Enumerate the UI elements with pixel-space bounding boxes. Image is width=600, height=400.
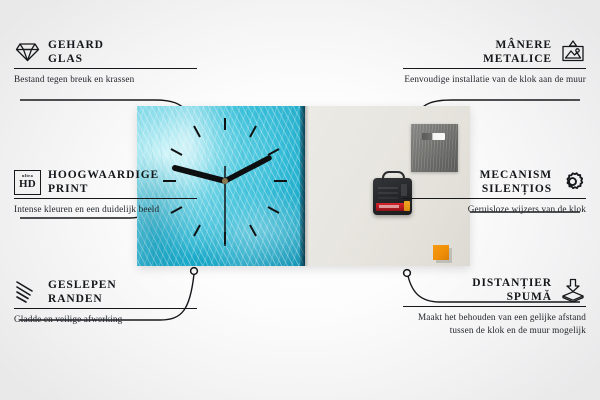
callout-gehard-glas: GEHARDGLAS Bestand tegen breuk en krasse… bbox=[14, 38, 197, 86]
callout-geslepen-randen: GESLEPENRANDEN Gladde en veilige afwerki… bbox=[14, 278, 197, 326]
gear-icon bbox=[559, 169, 586, 196]
callout-mecanism-silentios: MECANISMSILENȚIOS Geruisloze wijzers van… bbox=[403, 168, 586, 216]
infographic-canvas: GEHARDGLAS Bestand tegen breuk en krasse… bbox=[0, 0, 600, 400]
diamond-icon bbox=[14, 39, 41, 66]
callout-title: DISTANȚIERSPUMĂ bbox=[472, 276, 552, 304]
callout-title: MÂNEREMETALICE bbox=[483, 38, 552, 66]
callout-head: MECANISMSILENȚIOS bbox=[403, 168, 586, 198]
callout-title: GEHARDGLAS bbox=[48, 38, 104, 66]
callout-manere-metalice: MÂNEREMETALICE Eenvoudige installatie va… bbox=[403, 38, 586, 86]
callout-title: MECANISMSILENȚIOS bbox=[480, 168, 552, 196]
callout-rule bbox=[14, 198, 197, 199]
clock-center-pin bbox=[222, 178, 228, 184]
metal-hanger-plate bbox=[411, 124, 458, 172]
leader-dot-edges bbox=[191, 268, 198, 275]
callout-description: Intense kleuren en een duidelijk beeld bbox=[14, 203, 197, 216]
callout-description: Bestand tegen breuk en krassen bbox=[14, 73, 197, 86]
panel-inner-edge bbox=[305, 106, 309, 266]
callout-head: MÂNEREMETALICE bbox=[403, 38, 586, 68]
callout-distantier-spuma: DISTANȚIERSPUMĂ Maakt het behouden van e… bbox=[403, 276, 586, 337]
hd-badge-main: HD bbox=[19, 179, 36, 190]
hanger-slot bbox=[422, 133, 445, 140]
callout-description: Eenvoudige installatie van de klok aan d… bbox=[403, 73, 586, 86]
callout-rule bbox=[14, 68, 197, 69]
callout-hoogwaardige-print: ultra HD HOOGWAARDIGEPRINT Intense kleur… bbox=[14, 168, 197, 216]
battery-label bbox=[379, 205, 399, 208]
callout-rule bbox=[403, 198, 586, 199]
movement-hook bbox=[382, 171, 405, 182]
foam-spacer bbox=[433, 245, 449, 260]
callout-title: HOOGWAARDIGEPRINT bbox=[48, 168, 159, 196]
callout-head: ultra HD HOOGWAARDIGEPRINT bbox=[14, 168, 197, 198]
callout-head: GESLEPENRANDEN bbox=[14, 278, 197, 308]
callout-description: Maakt het behouden van een gelijke afsta… bbox=[403, 311, 586, 337]
callout-head: GEHARDGLAS bbox=[14, 38, 197, 68]
callout-rule bbox=[14, 308, 197, 309]
callout-description: Geruisloze wijzers van de klok bbox=[403, 203, 586, 216]
clock-minute-hand bbox=[225, 158, 269, 181]
spacer-arrow-icon bbox=[559, 277, 586, 304]
callout-rule bbox=[403, 306, 586, 307]
bevelled-edges-icon bbox=[14, 279, 41, 306]
callout-head: DISTANȚIERSPUMĂ bbox=[403, 276, 586, 306]
movement-vents bbox=[378, 187, 398, 189]
ultra-hd-icon: ultra HD bbox=[14, 169, 41, 196]
callout-description: Gladde en veilige afwerking bbox=[14, 313, 197, 326]
picture-frame-icon bbox=[559, 39, 586, 66]
callout-rule bbox=[403, 68, 586, 69]
callout-title: GESLEPENRANDEN bbox=[48, 278, 117, 306]
